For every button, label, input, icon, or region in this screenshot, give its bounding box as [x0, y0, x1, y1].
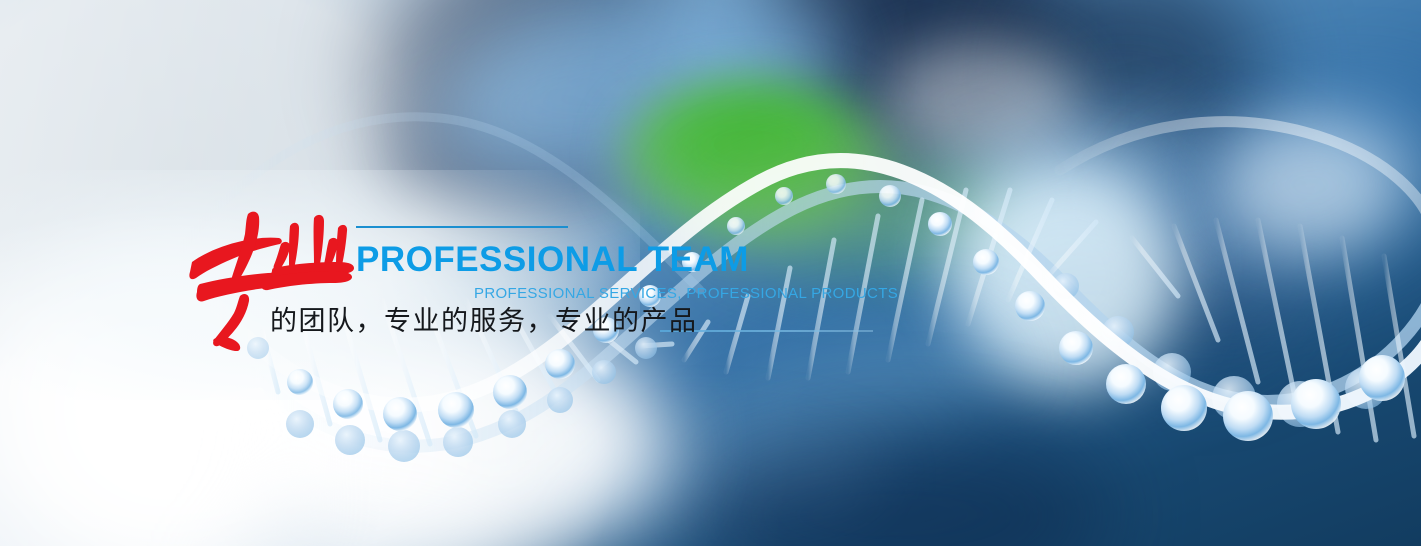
banner-copy: PROFESSIONAL TEAM PROFESSIONAL SERVICES,… — [0, 0, 1421, 546]
subheadline-chinese: 的团队，专业的服务，专业的产品 — [270, 306, 698, 338]
top-divider-line — [356, 226, 568, 228]
headline-professional-team: PROFESSIONAL TEAM — [356, 242, 749, 277]
hero-banner: PROFESSIONAL TEAM PROFESSIONAL SERVICES,… — [0, 0, 1421, 546]
subheadline-english: PROFESSIONAL SERVICES, PROFESSIONAL PROD… — [474, 286, 898, 301]
